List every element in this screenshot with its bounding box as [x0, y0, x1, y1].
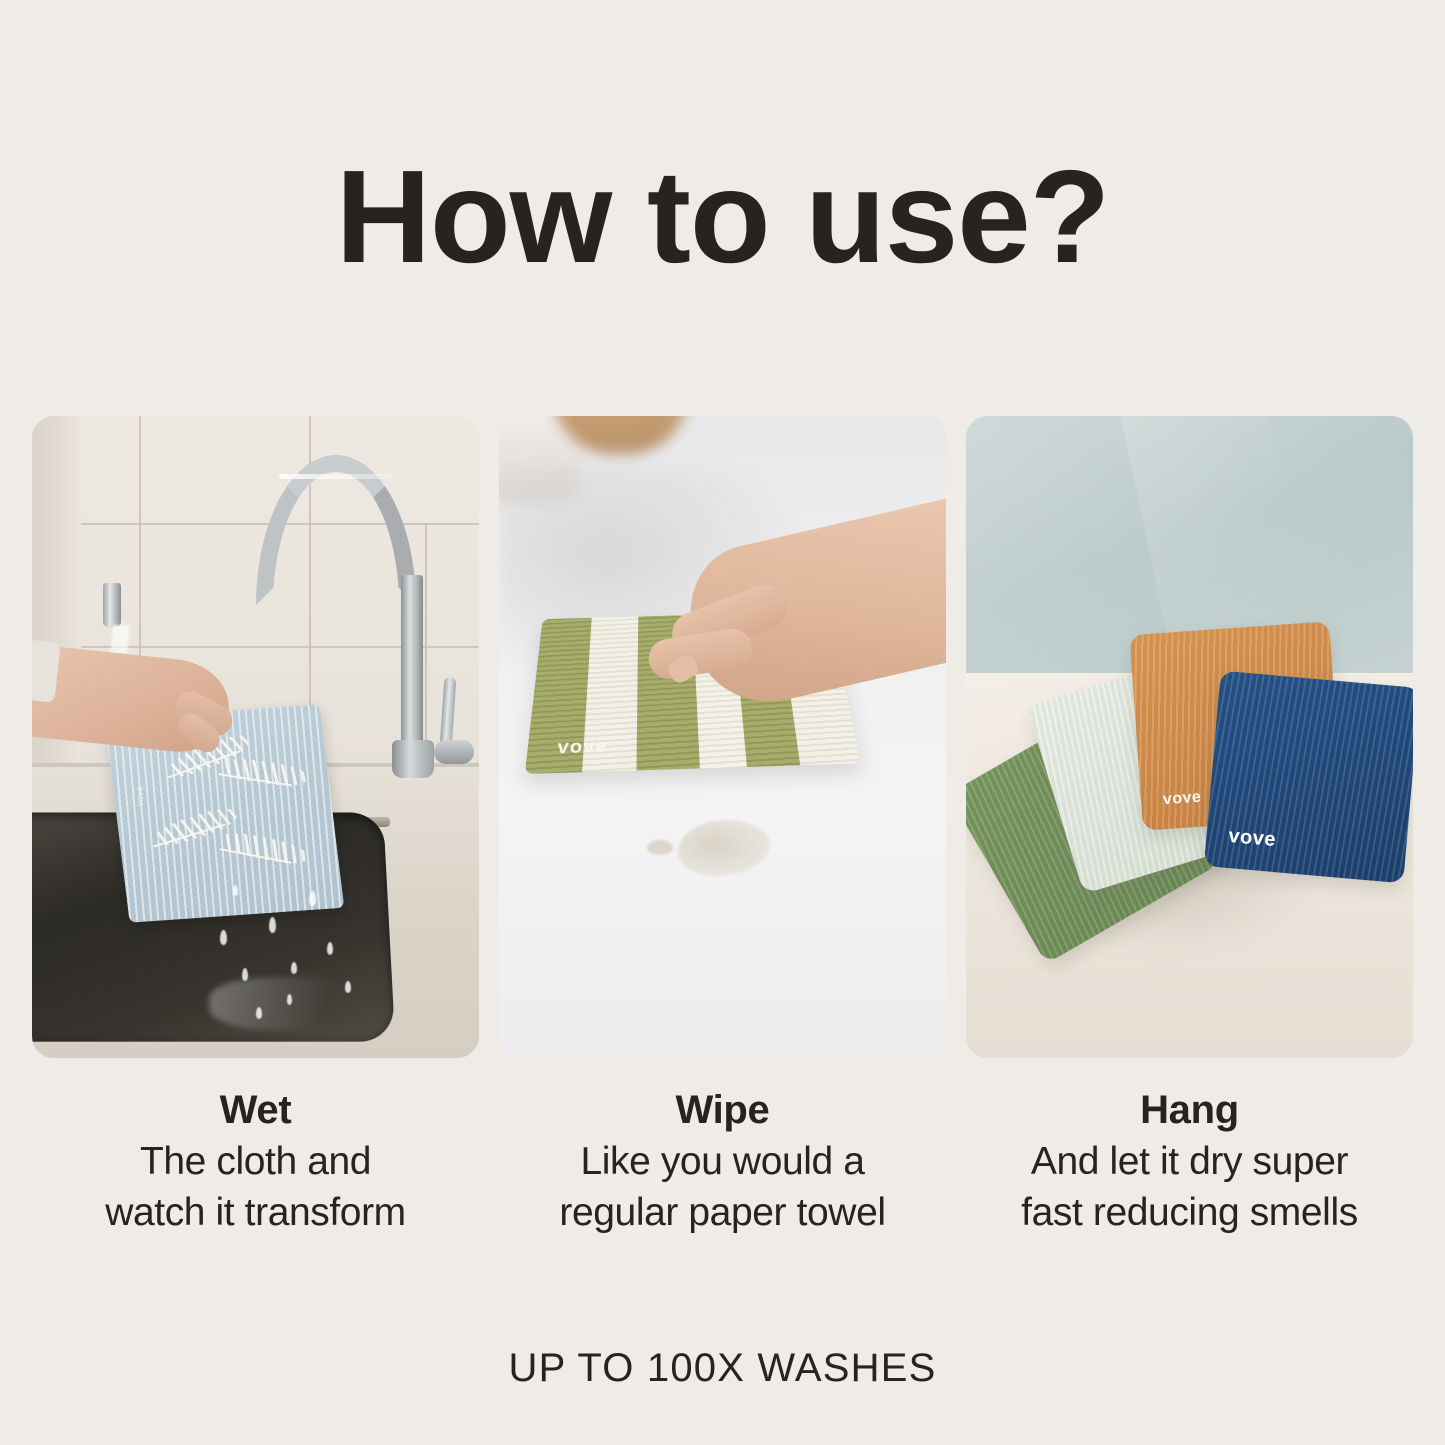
cloth-logo: vove — [134, 785, 145, 806]
faucet-base — [392, 740, 434, 778]
step-image-wipe: vove — [499, 416, 946, 1058]
faucet-spout — [103, 583, 121, 627]
steps-caption-row: Wet The cloth and watch it transform Wip… — [32, 1085, 1413, 1238]
faucet-arc — [256, 455, 416, 605]
step-description-line1: And let it dry super — [966, 1137, 1413, 1188]
step-description-line1: The cloth and — [32, 1137, 479, 1188]
steps-image-row: vove vove — [32, 416, 1413, 1058]
page-title: How to use? — [0, 148, 1445, 287]
step-description-line2: watch it transform — [32, 1188, 479, 1239]
cloth-logo: vove — [1162, 789, 1202, 810]
cloth-navy: vove — [1204, 671, 1413, 884]
step-description: The cloth and watch it transform — [32, 1137, 479, 1238]
step-label: Wipe — [499, 1085, 946, 1135]
step-label: Wet — [32, 1085, 479, 1135]
liquid-droplet — [647, 840, 673, 855]
faucet-handle-cap — [434, 740, 474, 764]
step-description-line2: regular paper towel — [499, 1188, 946, 1239]
faucet-column — [401, 575, 423, 750]
step-image-wet: vove — [32, 416, 479, 1058]
caption-hang: Hang And let it dry super fast reducing … — [966, 1085, 1413, 1238]
caption-wipe: Wipe Like you would a regular paper towe… — [499, 1085, 946, 1238]
caption-wet: Wet The cloth and watch it transform — [32, 1085, 479, 1238]
step-image-hang: vove vove — [966, 416, 1413, 1058]
step-description-line2: fast reducing smells — [966, 1188, 1413, 1239]
washes-claim: UP TO 100X WASHES — [0, 1346, 1445, 1391]
how-to-use-infographic: How to use? — [0, 0, 1445, 1445]
cloth-logo: vove — [1227, 826, 1276, 853]
step-description-line1: Like you would a — [499, 1137, 946, 1188]
step-label: Hang — [966, 1085, 1413, 1135]
step-description: And let it dry super fast reducing smell… — [966, 1137, 1413, 1238]
cloth-logo: vove — [556, 736, 608, 759]
step-description: Like you would a regular paper towel — [499, 1137, 946, 1238]
